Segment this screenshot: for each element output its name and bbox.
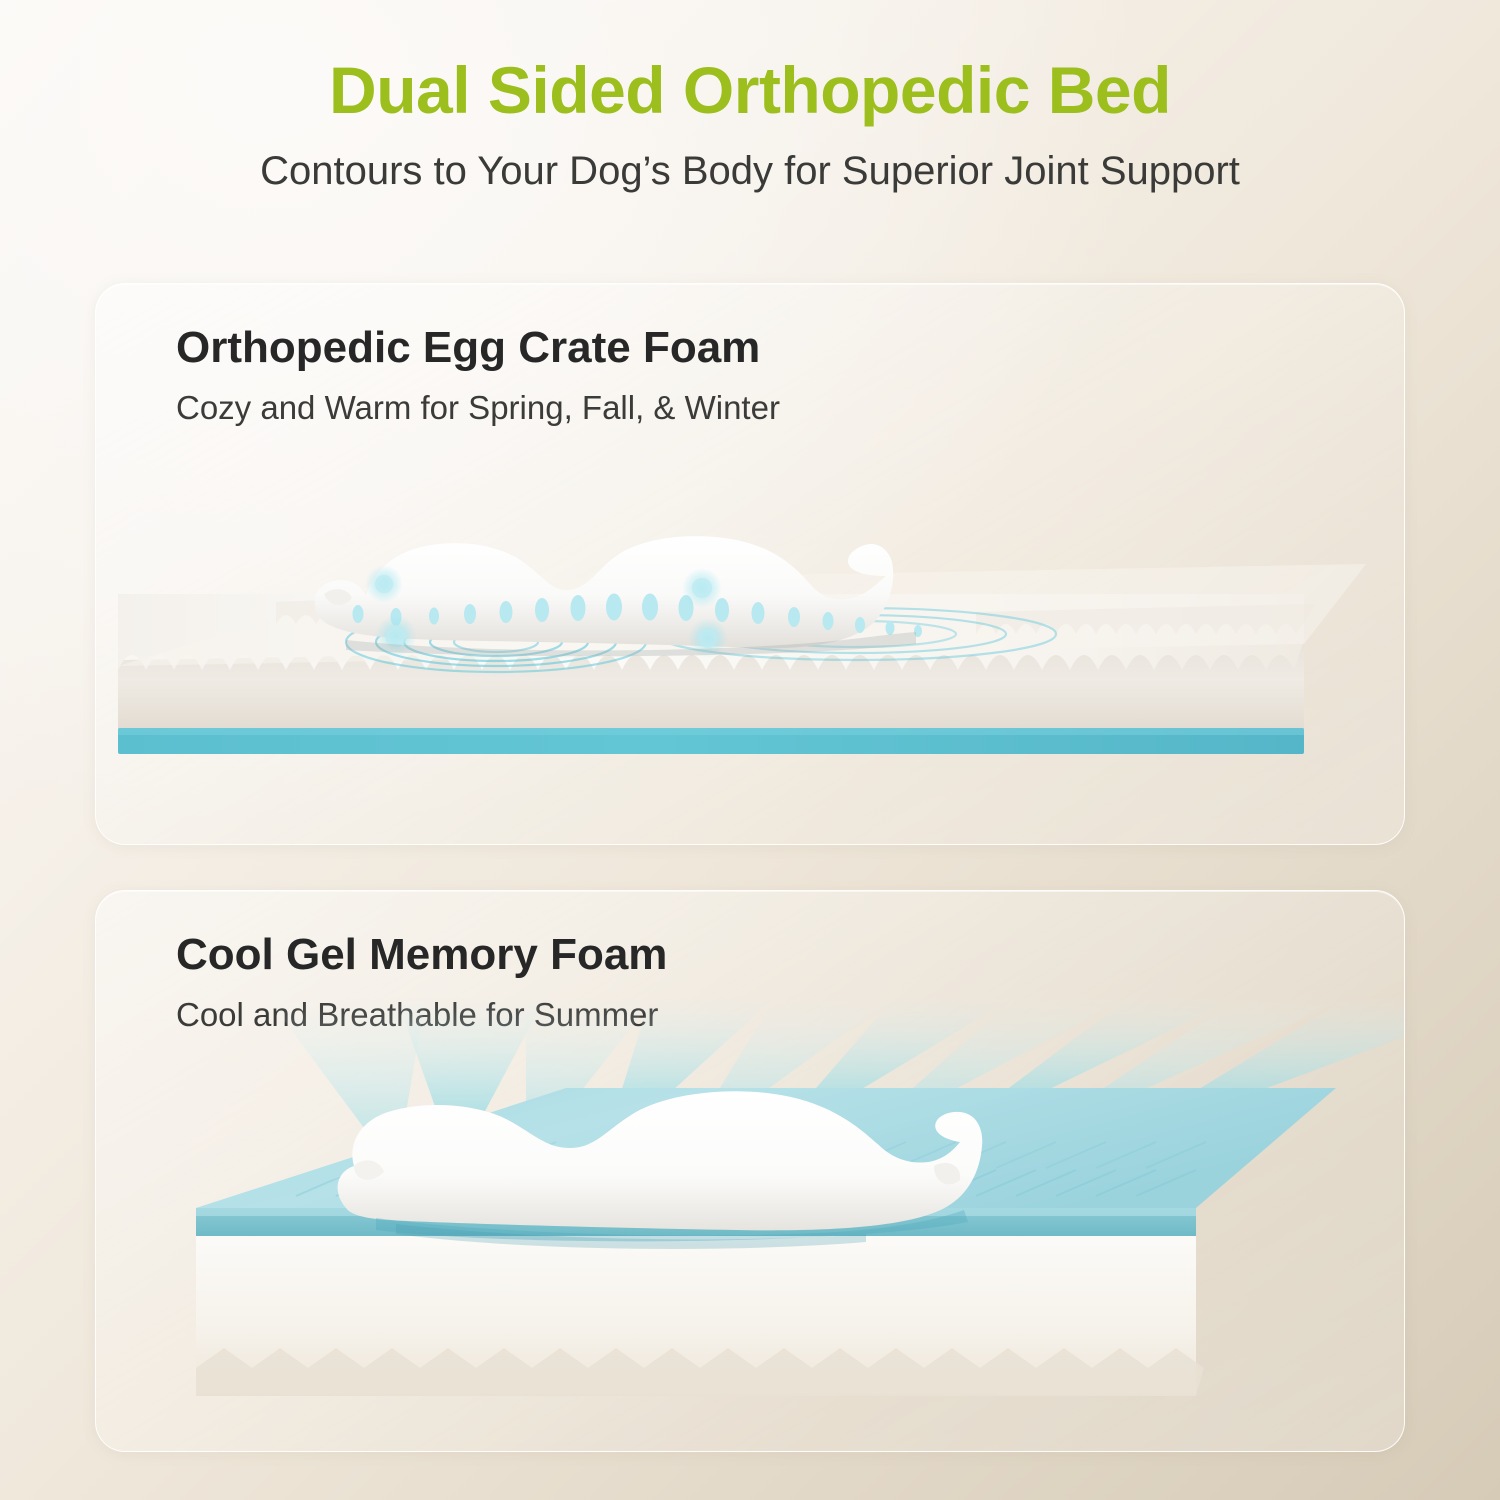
- infographic-page: Dual Sided Orthopedic Bed Contours to Yo…: [0, 0, 1500, 1500]
- card-1-title: Orthopedic Egg Crate Foam: [176, 324, 780, 372]
- egg-crate-foam-svg: [96, 444, 1405, 844]
- page-title: Dual Sided Orthopedic Bed: [0, 56, 1500, 126]
- egg-crate-foam-illustration: [96, 444, 1405, 844]
- teal-base-highlight: [118, 728, 1304, 735]
- page-subtitle: Contours to Your Dog’s Body for Superior…: [0, 148, 1500, 194]
- card-2-title: Cool Gel Memory Foam: [176, 931, 667, 979]
- card-1-subtitle: Cozy and Warm for Spring, Fall, & Winter: [176, 390, 780, 426]
- cool-gel-foam-svg: [96, 996, 1405, 1451]
- feature-card-cool-gel-memory-foam: Cool Gel Memory Foam Cool and Breathable…: [95, 890, 1405, 1452]
- header: Dual Sided Orthopedic Bed Contours to Yo…: [0, 56, 1500, 194]
- card-1-head: Orthopedic Egg Crate Foam Cozy and Warm …: [176, 324, 780, 427]
- cool-gel-foam-illustration: [96, 996, 1405, 1451]
- feature-card-egg-crate-foam: Orthopedic Egg Crate Foam Cozy and Warm …: [95, 283, 1405, 845]
